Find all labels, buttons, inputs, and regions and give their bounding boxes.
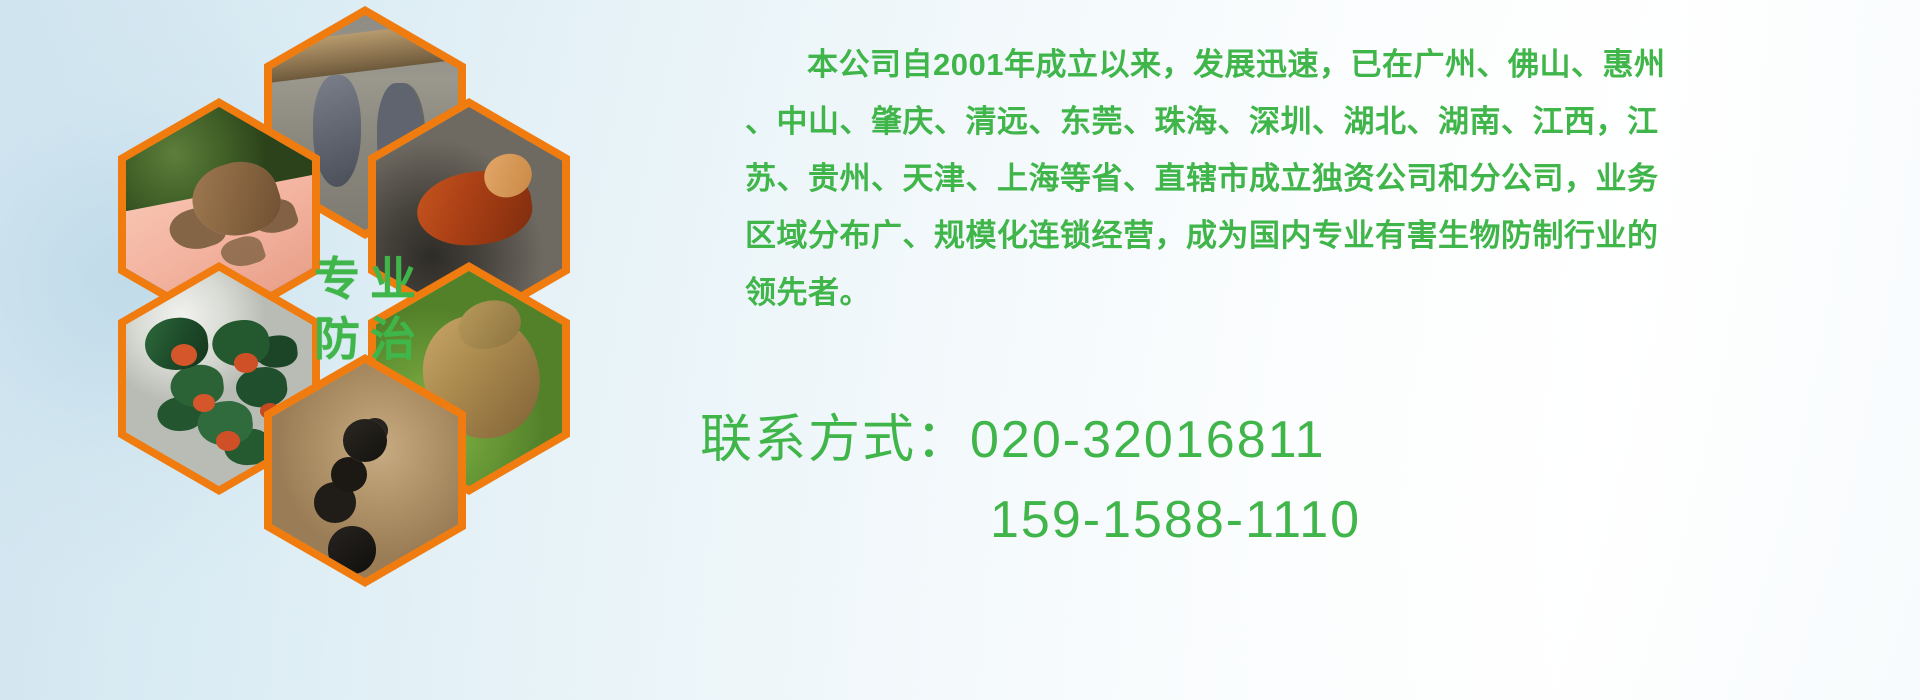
about-paragraph: 本公司自2001年成立以来，发展迅速，已在广州、佛山、惠州 、中山、肇庆、清远、… [745,36,1855,321]
about-line-4: 区域分布广、规模化连锁经营，成为国内专业有害生物防制行业的 [745,207,1855,264]
contact-block: 联系方式：020-32016811 159-1588-1110 [700,400,1361,560]
about-line-1: 本公司自2001年成立以来，发展迅速，已在广州、佛山、惠州 [745,36,1855,93]
about-line-3: 苏、贵州、天津、上海等省、直辖市成立独资公司和分公司，业务 [745,150,1855,207]
phone-secondary[interactable]: 159-1588-1110 [990,491,1361,549]
contact-primary-line: 联系方式：020-32016811 [700,400,1361,480]
badge-center-text: 专业 防治 [241,166,489,452]
badge-line-2: 防治 [304,316,426,362]
honeycomb-collage: 专业 防治 [78,0,598,584]
about-line-2: 、中山、肇庆、清远、东莞、珠海、深圳、湖北、湖南、江西，江 [745,93,1855,150]
badge-line-1: 专业 [304,256,426,302]
banner-canvas: 专业 防治 本公司自2001年成立以来，发展迅速，已在广州、佛山、惠州 、中山、… [0,0,1920,700]
contact-secondary-line: 159-1588-1110 [700,480,1361,560]
about-line-5: 领先者。 [745,264,1855,321]
phone-primary[interactable]: 020-32016811 [970,411,1326,469]
contact-label: 联系方式： [700,411,970,469]
